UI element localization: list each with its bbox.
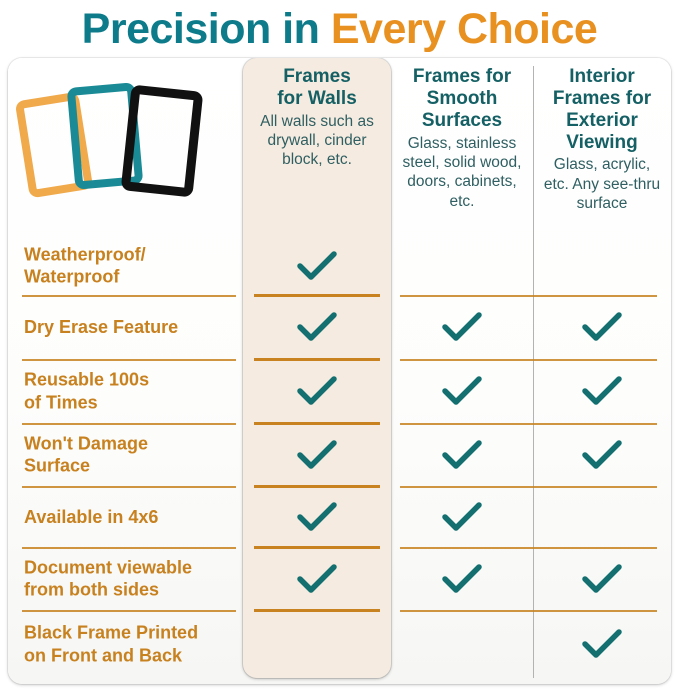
checkmark-icon [296, 563, 338, 595]
cell-check-yes [391, 374, 533, 408]
table-row: Dry Erase Feature [8, 295, 671, 359]
checkmark-icon [441, 375, 483, 407]
checkmark-icon [296, 439, 338, 471]
cell-empty [533, 500, 671, 534]
comparison-table-card: Framesfor WallsAll walls such as drywall… [8, 58, 671, 684]
row-divider [254, 609, 380, 612]
checkmark-icon [581, 628, 623, 660]
row-label: Dry Erase Feature [24, 316, 244, 339]
checkmark-icon [441, 563, 483, 595]
checkmark-icon [296, 250, 338, 282]
cell-check-yes [243, 500, 391, 534]
table-header-row: Framesfor WallsAll walls such as drywall… [8, 58, 671, 236]
table-row: Won't DamageSurface [8, 423, 671, 486]
cell-empty [391, 249, 533, 283]
cell-check-yes [391, 438, 533, 472]
checkmark-icon [296, 311, 338, 343]
row-divider [400, 610, 657, 612]
cell-check-yes [533, 310, 671, 344]
cell-check-yes [391, 500, 533, 534]
table-row: Available in 4x6 [8, 486, 671, 547]
row-divider [22, 295, 236, 297]
column-header-title: Interior Frames for Exterior Viewing [543, 66, 661, 153]
cell-check-yes [391, 562, 533, 596]
comparison-grid: Framesfor WallsAll walls such as drywall… [8, 58, 671, 684]
cell-check-yes [243, 374, 391, 408]
row-divider [254, 485, 380, 488]
row-divider [22, 610, 236, 612]
row-label: Black Frame Printedon Front and Back [24, 622, 244, 667]
row-label: Won't DamageSurface [24, 432, 244, 477]
row-divider [254, 422, 380, 425]
row-divider [400, 423, 657, 425]
column-header-title: Framesfor Walls [253, 66, 381, 110]
cell-check-yes [533, 562, 671, 596]
column-header-frames-for-smooth-surfaces: Frames for Smooth SurfacesGlass, stainle… [391, 58, 533, 236]
row-divider [254, 358, 380, 361]
row-divider [22, 423, 236, 425]
table-row: Reusable 100sof Times [8, 359, 671, 423]
checkmark-icon [296, 501, 338, 533]
row-divider [22, 359, 236, 361]
cell-empty [243, 627, 391, 661]
row-divider [400, 359, 657, 361]
row-divider [22, 486, 236, 488]
table-row: Black Frame Printedon Front and Back [8, 610, 671, 678]
row-label: Available in 4x6 [24, 505, 244, 528]
column-header-subtitle: Glass, acrylic, etc. Any see-thru surfac… [543, 155, 661, 213]
cell-check-yes [533, 627, 671, 661]
column-header-subtitle: Glass, stainless steel, solid wood, door… [401, 134, 523, 212]
cell-check-yes [243, 249, 391, 283]
checkmark-icon [581, 311, 623, 343]
checkmark-icon [441, 311, 483, 343]
page-title-part-accent: Every Choice [331, 5, 597, 53]
table-row: Document viewablefrom both sides [8, 547, 671, 610]
column-header-frames-for-walls: Framesfor WallsAll walls such as drywall… [243, 58, 391, 236]
cell-check-yes [243, 562, 391, 596]
checkmark-icon [581, 439, 623, 471]
checkmark-icon [581, 563, 623, 595]
row-divider [400, 295, 657, 297]
row-divider [400, 547, 657, 549]
checkmark-icon [296, 375, 338, 407]
cell-check-yes [243, 310, 391, 344]
page-title-part-primary: Precision in [82, 5, 331, 53]
cell-check-yes [533, 438, 671, 472]
checkmark-icon [581, 375, 623, 407]
column-header-interior-frames-for-exterior-viewing: Interior Frames for Exterior ViewingGlas… [533, 58, 671, 236]
checkmark-icon [441, 439, 483, 471]
row-divider [254, 294, 380, 297]
cell-check-yes [243, 438, 391, 472]
row-divider [400, 486, 657, 488]
cell-check-yes [533, 374, 671, 408]
row-divider [22, 547, 236, 549]
table-row: Weatherproof/Waterproof [8, 236, 671, 295]
cell-empty [533, 249, 671, 283]
cell-check-yes [391, 310, 533, 344]
column-header-subtitle: All walls such as drywall, cinder block,… [253, 112, 381, 170]
row-label: Reusable 100sof Times [24, 369, 244, 414]
cell-empty [391, 627, 533, 661]
page-title: Precision in Every Choice [0, 0, 679, 56]
row-label: Weatherproof/Waterproof [24, 243, 244, 288]
row-label: Document viewablefrom both sides [24, 556, 244, 601]
checkmark-icon [441, 501, 483, 533]
row-divider [254, 546, 380, 549]
column-header-title: Frames for Smooth Surfaces [401, 66, 523, 132]
